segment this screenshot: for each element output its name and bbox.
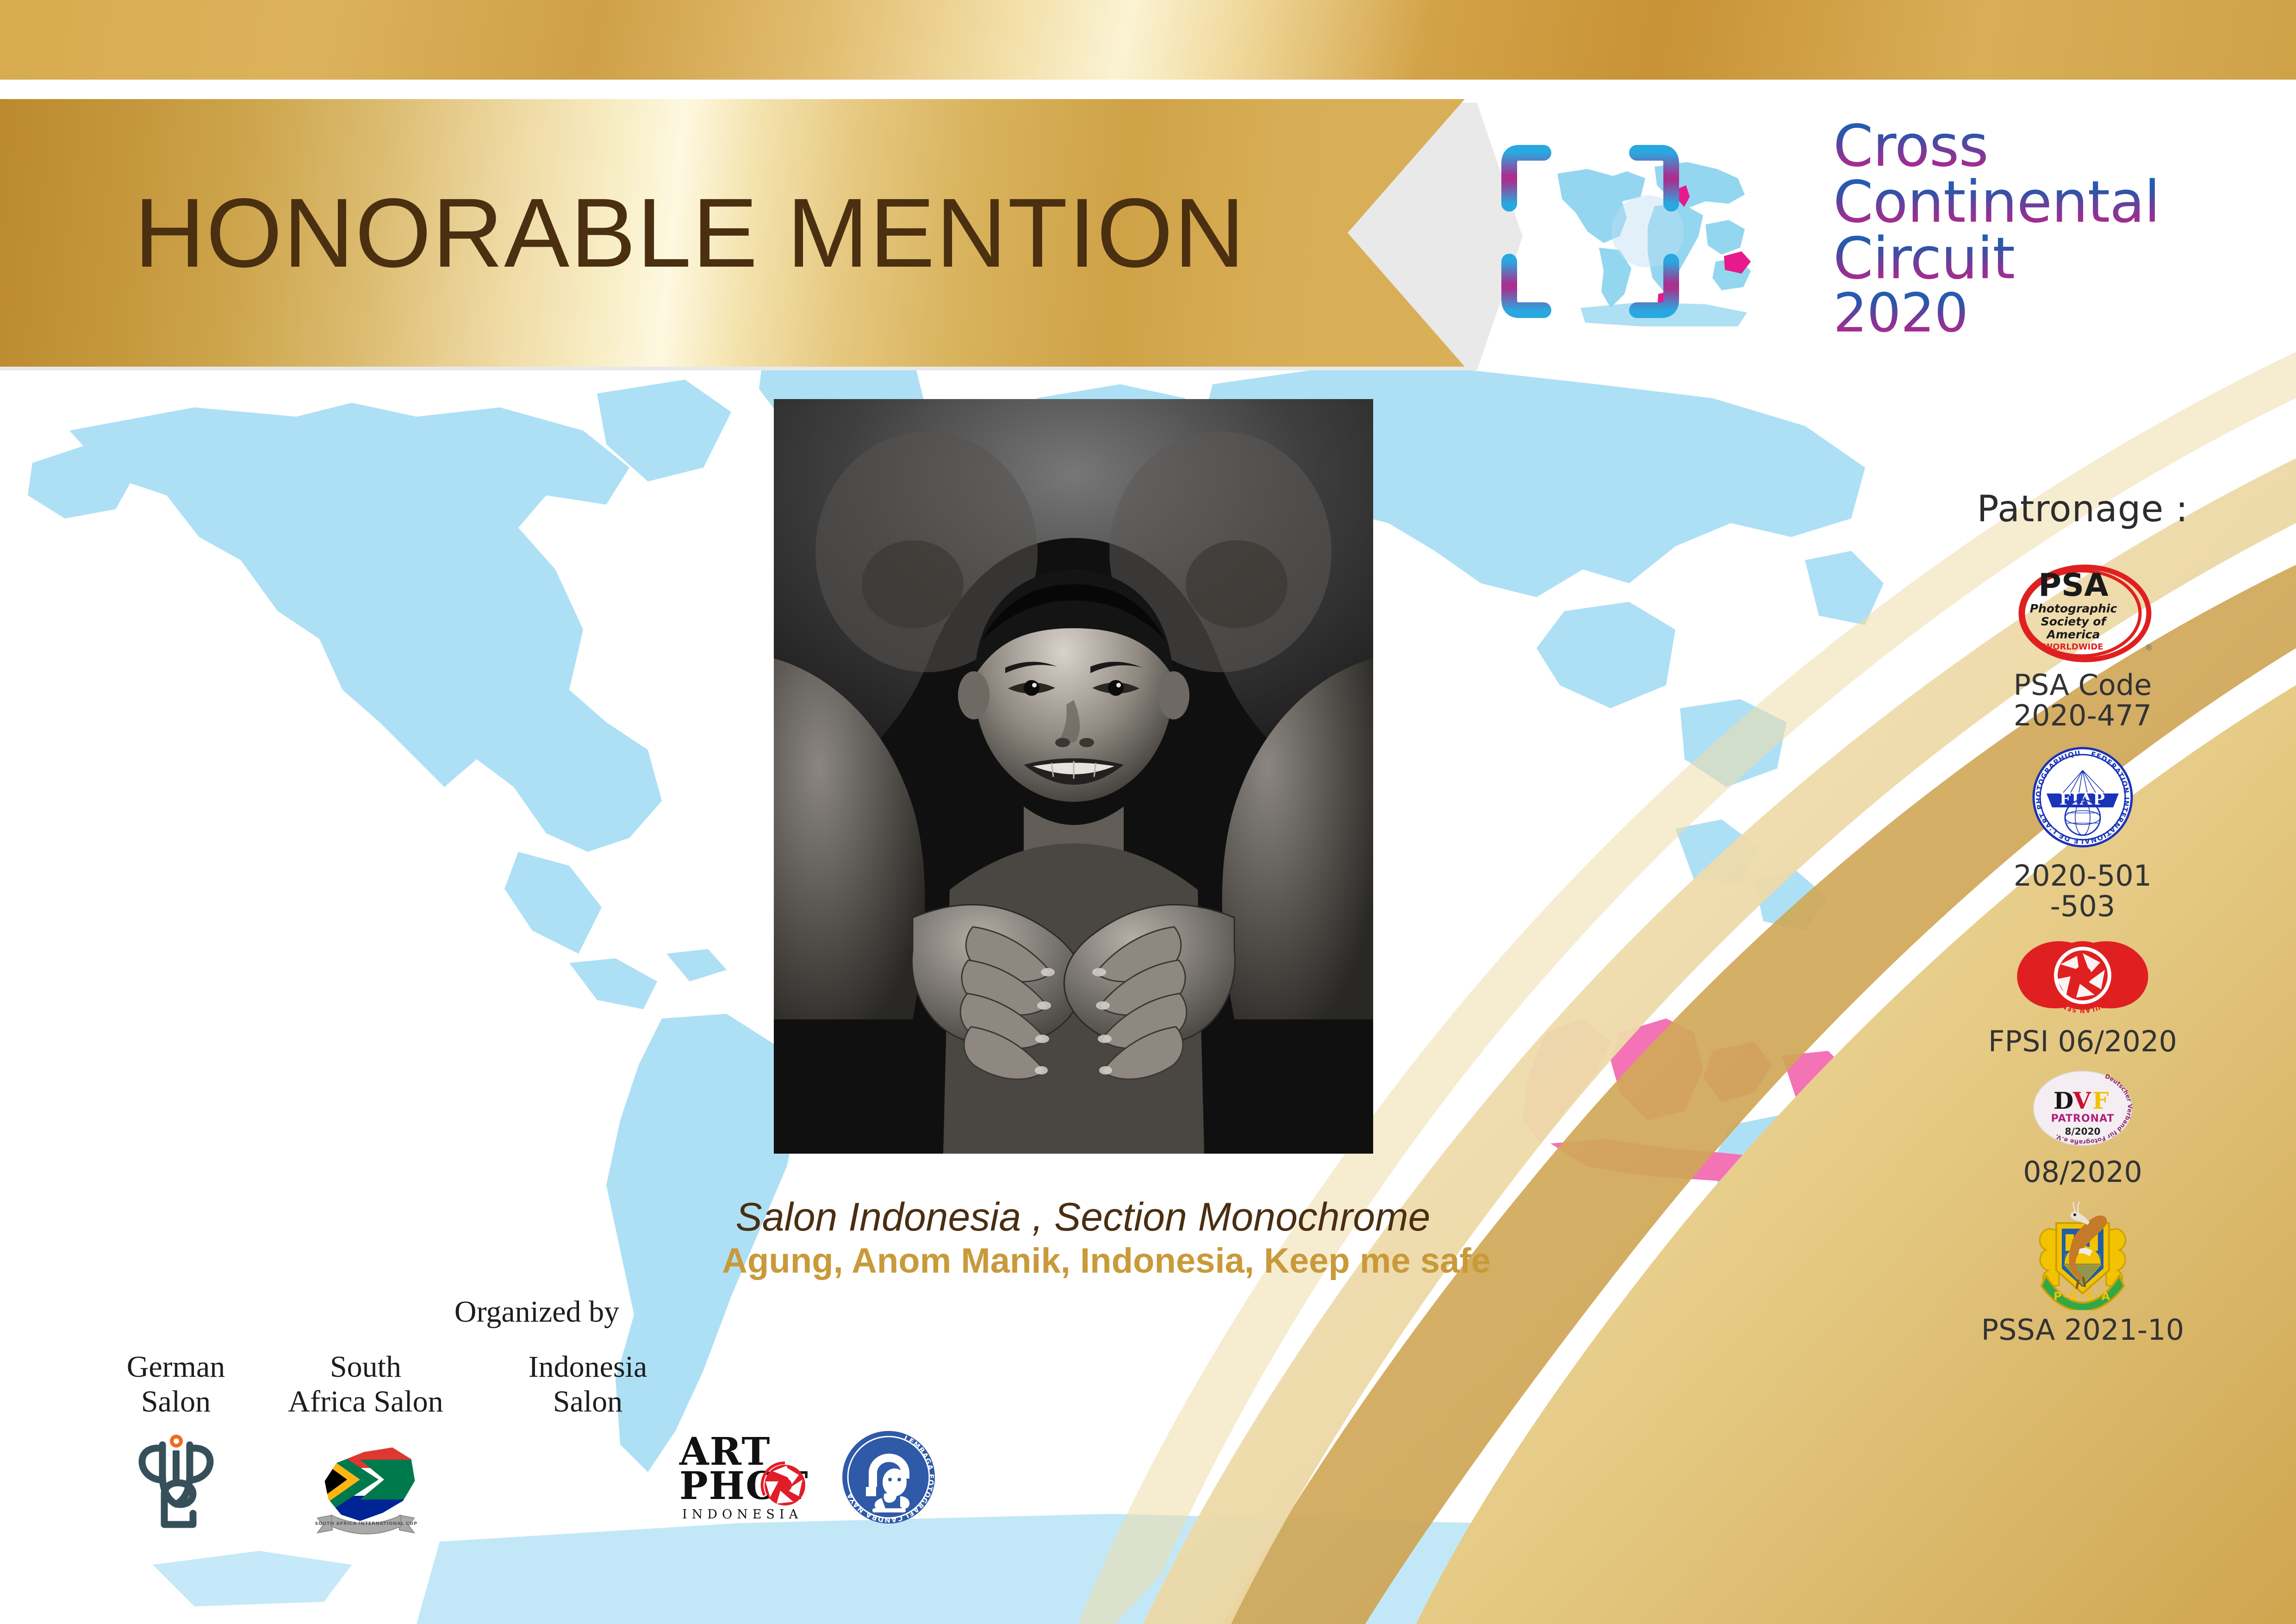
patronage-item-dvf: Deutscher Verband für Fotografie e.V. D … xyxy=(1939,1064,2226,1187)
organizer-german-salon: German Salon xyxy=(106,1349,245,1537)
svg-text:®: ® xyxy=(2145,643,2153,653)
fiap-icon: FEDERATION INTERNATIONALE DE L'ART PHOTO… xyxy=(1939,738,2226,856)
patronage-item-fiap: FEDERATION INTERNATIONALE DE L'ART PHOTO… xyxy=(1939,738,2226,921)
lembaga-fotografi-candra-naya-logo: LEMBAGA FOTOGRAFI CANDRA NAYA · JAKARTA … xyxy=(815,1417,963,1526)
patronage-item-pssa: P·S·S·A PSSA 2021-10 xyxy=(1939,1194,2226,1345)
logo-line-1: Cross xyxy=(1833,119,2160,175)
svg-text:PSA: PSA xyxy=(2038,567,2109,604)
organizer-south-africa-salon: South Africa Salon xyxy=(259,1349,472,1540)
dvf-code: 08/2020 xyxy=(1939,1157,2226,1187)
award-title: HONORABLE MENTION xyxy=(134,99,1246,367)
candra-naya-icon: LEMBAGA FOTOGRAFI CANDRA NAYA · JAKARTA … xyxy=(815,1429,963,1526)
patronage-section: Patronage : PSA Photographic Society of … xyxy=(1939,488,2226,1353)
patronage-item-psa: PSA Photographic Society of America WORL… xyxy=(1939,559,2226,731)
svg-text:Photographic: Photographic xyxy=(2030,602,2117,615)
camera-bracket-world-map-icon xyxy=(1488,109,1812,350)
indonesia-salon-label: Indonesia Salon xyxy=(495,1349,680,1419)
german-salon-label: German Salon xyxy=(106,1349,245,1419)
svg-text:SOUTH AFRICA INTERNATIONAL CUP: SOUTH AFRICA INTERNATIONAL CUP xyxy=(315,1521,417,1526)
svg-text:P·S·S·A: P·S·S·A xyxy=(2053,1290,2112,1303)
south-africa-salon-flag-icon: SOUTH AFRICA INTERNATIONAL CUP xyxy=(259,1431,472,1540)
organizer-indonesia-salon: Indonesia Salon xyxy=(495,1349,680,1419)
svg-text:F: F xyxy=(2092,1087,2109,1114)
svg-text:Society of: Society of xyxy=(2041,615,2108,628)
art-photo-indonesia-icon: ART PHOT INDONESIA xyxy=(671,1429,819,1526)
svg-text:Unter der Patronat Deutschen P: Unter der Patronat Deutschen Patronat nr… xyxy=(2037,1152,2123,1152)
svg-text:PATRONAT: PATRONAT xyxy=(2051,1113,2115,1124)
patronage-item-fpsi: FEDERASI PERKUMPULAN SENI FOTO · INDONES… xyxy=(1939,929,2226,1057)
photo-salon-caption: Salon Indonesia , Section Monochrome xyxy=(722,1194,1444,1240)
logo-wordmark: Cross Continental Circuit 2020 xyxy=(1833,119,2160,340)
south-africa-salon-label: South Africa Salon xyxy=(259,1349,472,1419)
pssa-code: PSSA 2021-10 xyxy=(1939,1315,2226,1345)
svg-text:V: V xyxy=(2072,1087,2091,1114)
german-salon-trophy-icon xyxy=(106,1431,245,1537)
fpsi-code: FPSI 06/2020 xyxy=(1939,1026,2226,1057)
patronage-heading: Patronage : xyxy=(1939,488,2226,530)
organized-by-label: Organized by xyxy=(430,1294,643,1330)
svg-text:WORLDWIDE: WORLDWIDE xyxy=(2043,642,2103,652)
top-gold-band xyxy=(0,0,2296,80)
cross-continental-circuit-logo: Cross Continental Circuit 2020 xyxy=(1488,95,2238,363)
psa-icon: PSA Photographic Society of America WORL… xyxy=(1939,559,2226,665)
pssa-icon: P·S·S·A xyxy=(1939,1194,2226,1310)
award-certificate: HONORABLE MENTION xyxy=(0,0,2296,1624)
winning-photograph xyxy=(774,399,1373,1154)
art-photo-indonesia-logo: ART PHOT INDONESIA xyxy=(671,1417,819,1526)
organizers-section: Organized by German Salon xyxy=(106,1278,921,1602)
dvf-patronat-icon: Deutscher Verband für Fotografie e.V. D … xyxy=(1939,1064,2226,1152)
psa-code: PSA Code 2020-477 xyxy=(1939,670,2226,731)
fiap-code: 2020-501 -503 xyxy=(1939,861,2226,921)
svg-text:INDONESIA: INDONESIA xyxy=(682,1507,803,1522)
svg-text:D: D xyxy=(2053,1087,2073,1114)
svg-text:8/2020: 8/2020 xyxy=(2065,1126,2101,1137)
logo-line-2: Continental xyxy=(1833,175,2160,231)
svg-text:America: America xyxy=(2046,628,2100,641)
fpsi-icon: FEDERASI PERKUMPULAN SENI FOTO · INDONES… xyxy=(1939,929,2226,1022)
logo-line-4: 2020 xyxy=(1833,287,2160,340)
photo-author-caption: Agung, Anom Manik, Indonesia, Keep me sa… xyxy=(722,1241,1444,1281)
award-banner: HONORABLE MENTION xyxy=(0,99,1523,367)
logo-line-3: Circuit xyxy=(1833,231,2160,287)
